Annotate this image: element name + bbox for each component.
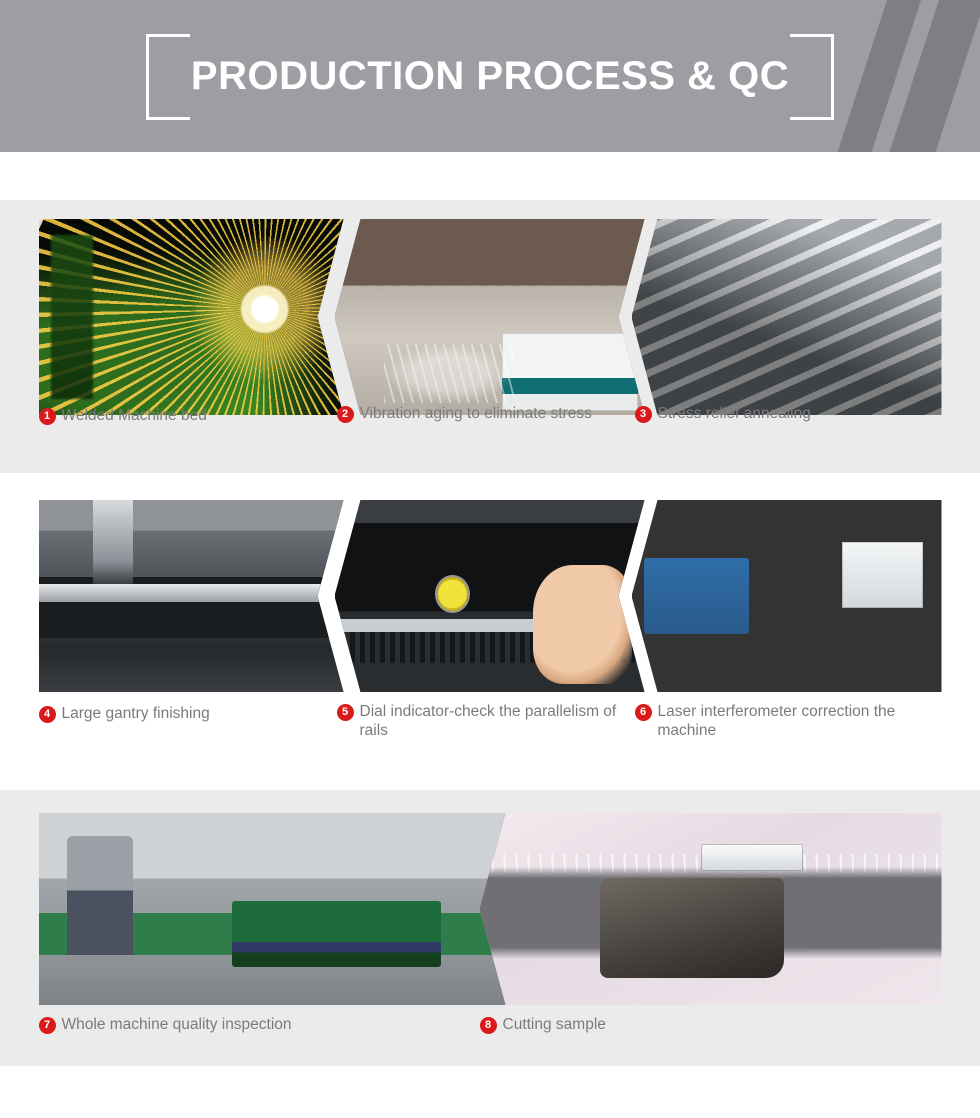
step-photo-5[interactable] [335,500,645,692]
step-photo-4[interactable] [39,500,344,692]
step-label-2: Vibration aging to eliminate stress [360,404,592,423]
gantry-finishing-photo [39,500,344,692]
step-caption-8: 8 Cutting sample [480,1015,606,1034]
page-header: PRODUCTION PROCESS & QC [0,0,980,152]
title-bracket-frame: PRODUCTION PROCESS & QC [146,34,834,120]
step-badge-8: 8 [480,1017,497,1034]
step-caption-1: 1 Welded Machine bed [39,406,207,425]
step-badge-7: 7 [39,1017,56,1034]
cutting-sample-photo [480,813,942,1005]
step-badge-4: 4 [39,706,56,723]
step-photo-3[interactable] [632,219,942,415]
step-photo-7[interactable] [39,813,512,1005]
step-badge-1: 1 [39,408,56,425]
step-label-1: Welded Machine bed [62,406,207,425]
step-label-8: Cutting sample [503,1015,606,1034]
process-row-3: 7 Whole machine quality inspection 8 Cut… [0,790,980,1066]
vibration-aging-photo [335,219,645,415]
step-caption-6: 6 Laser interferometer correction the ma… [635,702,918,740]
step-badge-2: 2 [337,406,354,423]
step-caption-2: 2 Vibration aging to eliminate stress [337,404,592,423]
row-spacer-2 [0,775,980,790]
laser-interferometer-photo [632,500,942,692]
step-caption-4: 4 Large gantry finishing [39,704,210,723]
step-badge-3: 3 [635,406,652,423]
step-photo-1[interactable] [39,219,344,415]
header-spacer [0,152,980,200]
step-photo-6[interactable] [632,500,942,692]
process-row-2: 4 Large gantry finishing 5 Dial indicato… [0,500,980,775]
dial-indicator-photo [335,500,645,692]
step-caption-5: 5 Dial indicator-check the parallelism o… [337,702,620,740]
step-photo-2[interactable] [335,219,645,415]
step-caption-7: 7 Whole machine quality inspection [39,1015,292,1034]
step-label-5: Dial indicator-check the parallelism of … [360,702,620,740]
step-caption-3: 3 Stress relief annealing [635,404,811,423]
process-row-1: 1 Welded Machine bed 2 Vibration aging t… [0,200,980,473]
stress-relief-annealing-photo [632,219,942,415]
step-label-4: Large gantry finishing [62,704,210,723]
page-title: PRODUCTION PROCESS & QC [146,56,834,96]
row-spacer-1 [0,473,980,500]
whole-machine-inspection-photo [39,813,512,1005]
step-label-7: Whole machine quality inspection [62,1015,292,1034]
step-label-6: Laser interferometer correction the mach… [658,702,918,740]
welding-sparks-photo [39,219,344,415]
step-badge-6: 6 [635,704,652,721]
step-badge-5: 5 [337,704,354,721]
step-photo-8[interactable] [480,813,942,1005]
step-label-3: Stress relief annealing [658,404,811,423]
